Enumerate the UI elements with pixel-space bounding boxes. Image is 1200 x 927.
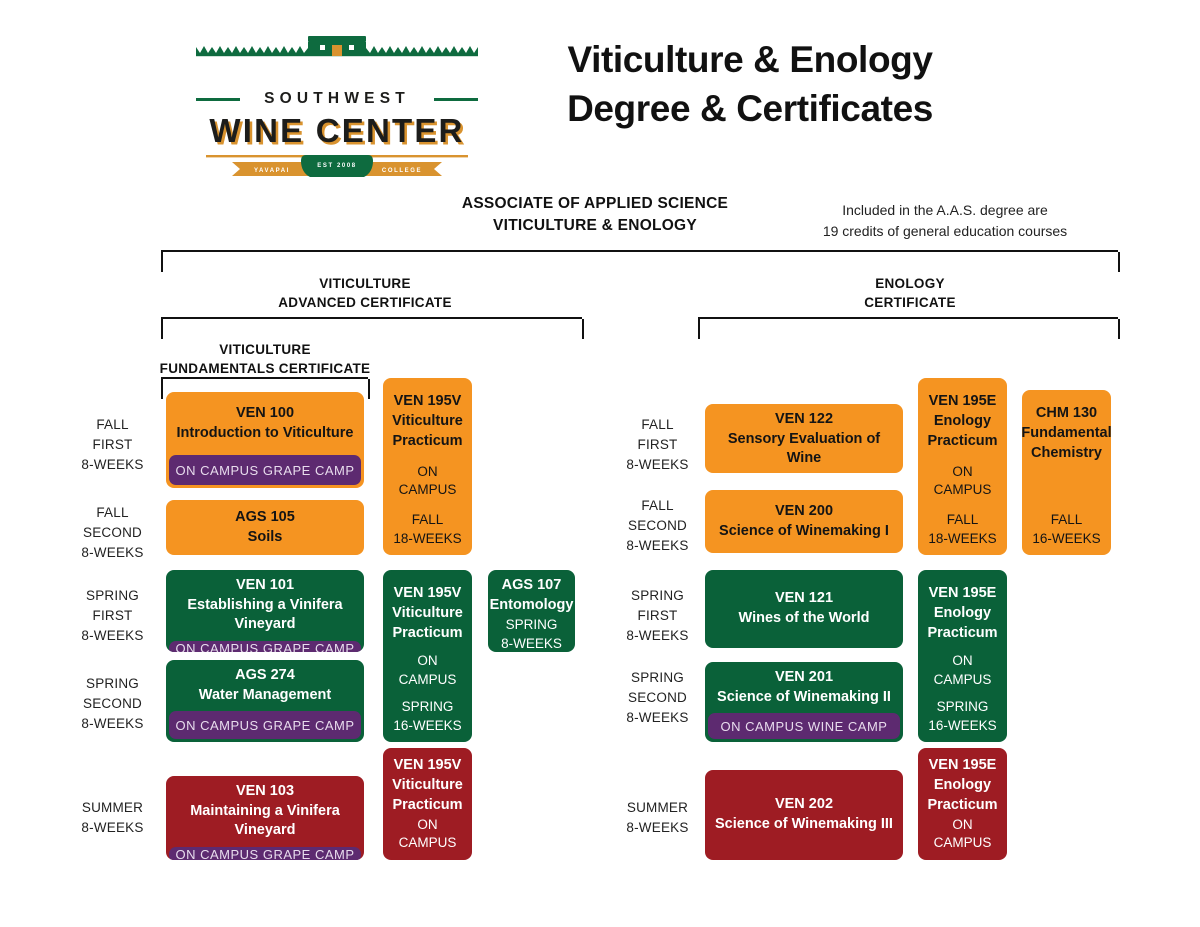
practicum-card-ven-195e-fall[interactable]: VEN 195E Enology Practicum ON CAMPUS FAL… [918,378,1007,555]
logo-est-banner-icon: EST 2008 YAVAPAI COLLEGE [196,152,478,182]
course-code: VEN 200 [775,502,833,522]
course-name: Science of Winemaking I [719,522,889,542]
course-name: Science of Winemaking II [717,688,891,708]
practicum-term: FALL [412,511,444,530]
logo-line-southwest: SOUTHWEST [250,90,424,108]
campus-badge-wine-camp: ON CAMPUS WINE CAMP [708,713,900,739]
term-right-3-line2: SECOND [605,688,710,708]
course-card-ven-200-body: VEN 200 Science of Winemaking I [705,490,903,553]
term-right-1-line3: 8-WEEKS [605,536,710,556]
course-name: Soils [248,528,283,548]
term-right-4-line2: 8-WEEKS [605,818,710,838]
practicum-name1: Viticulture [392,776,463,796]
course-card-ven-201[interactable]: VEN 201 Science of Winemaking II ON CAMP… [705,662,903,742]
course-card-ven-103[interactable]: VEN 103 Maintaining a Vinifera Vineyard … [166,776,364,860]
viticulture-enology-program-chart: SOUTHWEST WINE CENTER EST 2008 YAVAPAI C… [0,0,1200,927]
logo-est-text: EST 2008 [317,163,356,169]
term-label-right-4: SUMMER 8-WEEKS [605,798,710,838]
practicum-code: VEN 195E [929,756,997,776]
course-name: Maintaining a Vinifera Vineyard [174,802,356,841]
practicum-name2: Practicum [927,432,997,452]
course-card-ags-105-body: AGS 105 Soils [166,500,364,555]
practicum-weeks: 18-WEEKS [393,530,461,549]
course-name2: Chemistry [1031,444,1102,464]
page-title-line2: Degree & Certificates [500,85,1000,134]
course-name: Sensory Evaluation of Wine [713,430,895,469]
term-left-4-line2: 8-WEEKS [60,818,165,838]
course-card-ven-201-body: VEN 201 Science of Winemaking II [705,662,903,713]
logo-rule-right [434,98,478,101]
cert-vit-fund-line1: VITICULTURE [100,340,430,359]
course-card-ven-200[interactable]: VEN 200 Science of Winemaking I [705,490,903,553]
course-code: VEN 121 [775,589,833,609]
practicum-name1: Enology [934,776,991,796]
practicum-name1: Viticulture [392,412,463,432]
bracket-enology [698,317,1118,319]
practicum-location: ON CAMPUS [391,652,464,690]
course-card-ven-100-body: VEN 100 Introduction to Viticulture [166,392,364,455]
practicum-name1: Enology [934,412,991,432]
course-code: VEN 202 [775,795,833,815]
practicum-card-ven-195e-spring[interactable]: VEN 195E Enology Practicum ON CAMPUS SPR… [918,570,1007,742]
cert-enology-line2: CERTIFICATE [745,293,1075,312]
practicum-code: VEN 195V [394,584,462,604]
term-right-0-line3: 8-WEEKS [605,455,710,475]
term-label-left-1: FALL SECOND 8-WEEKS [60,503,165,563]
course-name: Water Management [199,686,331,706]
course-code: VEN 201 [775,668,833,688]
logo-college-text: COLLEGE [382,168,422,174]
practicum-code: VEN 195E [929,584,997,604]
term-right-4-line1: SUMMER [605,798,710,818]
practicum-name1: Viticulture [392,604,463,624]
campus-badge-grape-camp: ON CAMPUS GRAPE CAMP [169,455,361,485]
course-card-ven-202[interactable]: VEN 202 Science of Winemaking III [705,770,903,860]
course-name: Establishing a Vinifera Vineyard [174,596,356,635]
practicum-location: ON CAMPUS [391,463,464,501]
term-right-2-line2: FIRST [605,606,710,626]
course-card-ven-100[interactable]: VEN 100 Introduction to Viticulture ON C… [166,392,364,488]
page-title-line1: Viticulture & Enology [500,36,1000,85]
term-left-3-line1: SPRING [60,674,165,694]
term-label-left-2: SPRING FIRST 8-WEEKS [60,586,165,646]
practicum-location: ON CAMPUS [391,816,464,854]
course-weeks: 16-WEEKS [1032,530,1100,549]
course-name: Entomology [490,596,574,616]
term-right-0-line2: FIRST [605,435,710,455]
southwest-wine-center-logo: SOUTHWEST WINE CENTER EST 2008 YAVAPAI C… [196,34,478,154]
practicum-name2: Practicum [392,432,462,452]
cert-vit-fund-line2: FUNDAMENTALS CERTIFICATE [100,359,430,378]
practicum-ven-195e-summer-body: VEN 195E Enology Practicum ON CAMPUS SUM… [918,748,1007,860]
practicum-name2: Practicum [392,624,462,644]
practicum-ven-195e-spring-body: VEN 195E Enology Practicum ON CAMPUS SPR… [918,570,1007,742]
course-card-chm-130[interactable]: CHM 130 Fundamental Chemistry FALL 16-WE… [1022,390,1111,555]
aas-note: Included in the A.A.S. degree are 19 cre… [800,200,1090,242]
term-left-1-line3: 8-WEEKS [60,543,165,563]
course-term: FALL [1051,511,1083,530]
aas-heading-line2: VITICULTURE & ENOLOGY [430,215,760,237]
course-card-ven-101[interactable]: VEN 101 Establishing a Vinifera Vineyard… [166,570,364,652]
logo-rule-left [196,98,240,101]
bracket-viticulture-fundamentals [161,377,368,379]
term-left-2-line3: 8-WEEKS [60,626,165,646]
course-card-ags-274-body: AGS 274 Water Management [166,660,364,711]
term-left-2-line2: FIRST [60,606,165,626]
course-name: Science of Winemaking III [715,815,893,835]
practicum-ven-195v-summer-body: VEN 195V Viticulture Practicum ON CAMPUS… [383,748,472,860]
practicum-name2: Practicum [927,624,997,644]
course-card-ags-107[interactable]: AGS 107 Entomology SPRING 8-WEEKS [488,570,575,652]
practicum-ven-195v-spring-body: VEN 195V Viticulture Practicum ON CAMPUS… [383,570,472,742]
practicum-term: SUMMER [398,857,458,860]
term-left-1-line2: SECOND [60,523,165,543]
term-left-0-line3: 8-WEEKS [60,455,165,475]
practicum-term: SPRING [937,698,989,717]
practicum-name1: Enology [934,604,991,624]
practicum-card-ven-195v-fall[interactable]: VEN 195V Viticulture Practicum ON CAMPUS… [383,378,472,555]
practicum-term: SUMMER [933,857,993,860]
term-right-2-line3: 8-WEEKS [605,626,710,646]
cert-vit-adv-line1: VITICULTURE [200,274,530,293]
course-code: AGS 107 [502,576,562,596]
course-code: VEN 101 [236,576,294,596]
course-name1: Fundamental [1022,424,1111,444]
term-label-left-4: SUMMER 8-WEEKS [60,798,165,838]
campus-badge-grape-camp: ON CAMPUS GRAPE CAMP [169,641,361,652]
practicum-location: ON CAMPUS [926,463,999,501]
course-card-ven-121-body: VEN 121 Wines of the World [705,570,903,648]
practicum-ven-195v-fall-body: VEN 195V Viticulture Practicum ON CAMPUS… [383,378,472,555]
aas-note-line2: 19 credits of general education courses [800,221,1090,242]
aas-note-line1: Included in the A.A.S. degree are [800,200,1090,221]
course-name: Introduction to Viticulture [177,424,354,444]
course-code: VEN 103 [236,782,294,802]
course-weeks: 8-WEEKS [501,634,562,652]
cert-label-viticulture-fundamentals: VITICULTURE FUNDAMENTALS CERTIFICATE [100,340,430,378]
practicum-code: VEN 195V [394,756,462,776]
practicum-card-ven-195e-summer[interactable]: VEN 195E Enology Practicum ON CAMPUS SUM… [918,748,1007,860]
course-card-ven-202-body: VEN 202 Science of Winemaking III [705,770,903,860]
term-right-1-line1: FALL [605,496,710,516]
cert-vit-adv-line2: ADVANCED CERTIFICATE [200,293,530,312]
practicum-term: FALL [947,511,979,530]
practicum-term: SPRING [402,698,454,717]
practicum-name2: Practicum [927,796,997,816]
term-label-right-2: SPRING FIRST 8-WEEKS [605,586,710,646]
logo-southwest-row: SOUTHWEST [196,90,478,108]
term-label-left-3: SPRING SECOND 8-WEEKS [60,674,165,734]
course-card-ags-105[interactable]: AGS 105 Soils [166,500,364,555]
aas-heading-line1: ASSOCIATE OF APPLIED SCIENCE [430,193,760,215]
page-title: Viticulture & Enology Degree & Certifica… [500,36,1000,134]
course-card-ags-107-body: AGS 107 Entomology SPRING 8-WEEKS [488,570,575,652]
term-right-1-line2: SECOND [605,516,710,536]
logo-building-ridge-icon [196,34,478,64]
course-name: Wines of the World [739,609,870,629]
practicum-code: VEN 195V [394,392,462,412]
term-label-right-3: SPRING SECOND 8-WEEKS [605,668,710,728]
course-code: VEN 100 [236,404,294,424]
term-left-1-line1: FALL [60,503,165,523]
practicum-location: ON CAMPUS [926,652,999,690]
term-right-0-line1: FALL [605,415,710,435]
bracket-viticulture-advanced [161,317,582,319]
bracket-aas [161,250,1118,252]
course-card-ven-121[interactable]: VEN 121 Wines of the World [705,570,903,648]
course-card-ven-122[interactable]: VEN 122 Sensory Evaluation of Wine [705,404,903,473]
term-right-3-line1: SPRING [605,668,710,688]
course-code: VEN 122 [775,410,833,430]
term-right-2-line1: SPRING [605,586,710,606]
cert-enology-line1: ENOLOGY [745,274,1075,293]
term-left-3-line3: 8-WEEKS [60,714,165,734]
course-card-ags-274[interactable]: AGS 274 Water Management ON CAMPUS GRAPE… [166,660,364,742]
practicum-weeks: 18-WEEKS [928,530,996,549]
term-left-2-line1: SPRING [60,586,165,606]
course-card-ven-103-body: VEN 103 Maintaining a Vinifera Vineyard [166,776,364,847]
practicum-ven-195e-fall-body: VEN 195E Enology Practicum ON CAMPUS FAL… [918,378,1007,555]
cert-label-enology: ENOLOGY CERTIFICATE [745,274,1075,312]
course-code: AGS 274 [235,666,295,686]
campus-badge-grape-camp: ON CAMPUS GRAPE CAMP [169,711,361,739]
term-left-3-line2: SECOND [60,694,165,714]
course-term: SPRING [506,615,558,634]
logo-line-wine-center: WINE CENTER [196,112,478,150]
course-code: CHM 130 [1036,404,1097,424]
course-card-ven-101-body: VEN 101 Establishing a Vinifera Vineyard [166,570,364,641]
practicum-weeks: 16-WEEKS [928,717,996,736]
logo-yavapai-text: YAVAPAI [254,168,290,174]
term-label-right-1: FALL SECOND 8-WEEKS [605,496,710,556]
practicum-card-ven-195v-summer[interactable]: VEN 195V Viticulture Practicum ON CAMPUS… [383,748,472,860]
term-label-left-0: FALL FIRST 8-WEEKS [60,415,165,475]
cert-label-viticulture-advanced: VITICULTURE ADVANCED CERTIFICATE [200,274,530,312]
term-label-right-0: FALL FIRST 8-WEEKS [605,415,710,475]
practicum-name2: Practicum [392,796,462,816]
practicum-location: ON CAMPUS [926,816,999,854]
course-card-ven-122-body: VEN 122 Sensory Evaluation of Wine [705,404,903,473]
term-left-4-line1: SUMMER [60,798,165,818]
term-left-0-line1: FALL [60,415,165,435]
aas-heading: ASSOCIATE OF APPLIED SCIENCE VITICULTURE… [430,193,760,237]
campus-badge-grape-camp: ON CAMPUS GRAPE CAMP [169,847,361,860]
course-card-chm-130-body: CHM 130 Fundamental Chemistry FALL 16-WE… [1022,390,1111,555]
term-left-0-line2: FIRST [60,435,165,455]
course-code: AGS 105 [235,508,295,528]
practicum-card-ven-195v-spring[interactable]: VEN 195V Viticulture Practicum ON CAMPUS… [383,570,472,742]
practicum-code: VEN 195E [929,392,997,412]
practicum-weeks: 16-WEEKS [393,717,461,736]
term-right-3-line3: 8-WEEKS [605,708,710,728]
